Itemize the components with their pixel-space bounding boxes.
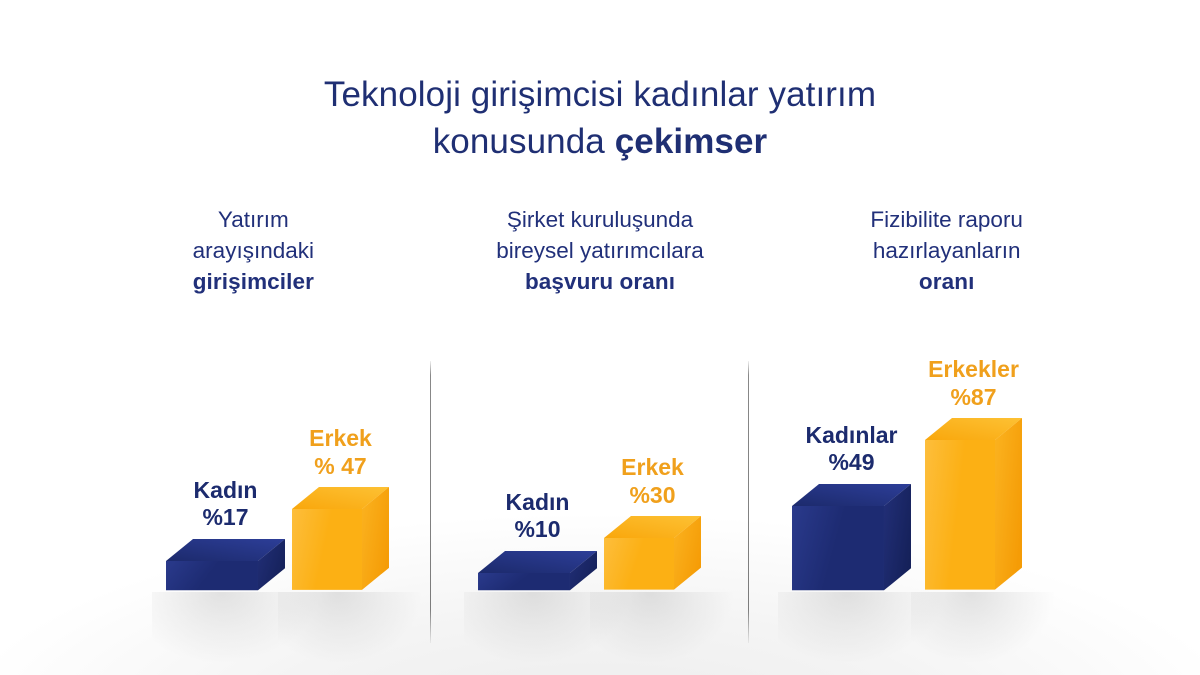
bar-label-value: %30 bbox=[553, 482, 753, 510]
bar-kadın-group-3 bbox=[790, 480, 917, 598]
bar-erkek-group-3 bbox=[923, 414, 1028, 598]
bar-label-value: % 47 bbox=[241, 453, 441, 481]
bar-kadın-group-1 bbox=[164, 535, 291, 598]
bar-label-name: Erkek bbox=[621, 454, 684, 480]
bar-erkek-group-2 bbox=[602, 512, 707, 598]
bar-shadow bbox=[778, 592, 943, 662]
bar-label-value: %87 bbox=[874, 384, 1074, 412]
bar-label-name: Kadın bbox=[194, 477, 258, 503]
bar-erkek-group-1 bbox=[290, 483, 395, 598]
bar-shadow bbox=[278, 592, 421, 662]
bar-label-erkek-group-2: Erkek%30 bbox=[553, 454, 753, 509]
bar-shadow bbox=[464, 592, 629, 662]
bar-label-kadın-group-3: Kadınlar%49 bbox=[752, 422, 952, 477]
bar-label-erkek-group-1: Erkek% 47 bbox=[241, 425, 441, 480]
bar-label-value: %49 bbox=[752, 449, 952, 477]
bar-shadow bbox=[590, 592, 733, 662]
bar-shadow bbox=[152, 592, 317, 662]
bar-chart: Kadın%17Kadın%10Kadınlar%49Erkek% 47Erke… bbox=[0, 0, 1200, 675]
bar-label-erkek-group-3: Erkekler%87 bbox=[874, 356, 1074, 411]
bar-label-name: Erkek bbox=[309, 425, 372, 451]
bar-label-name: Erkekler bbox=[928, 356, 1019, 382]
bar-kadın-group-2 bbox=[476, 547, 603, 598]
bar-shadow bbox=[911, 592, 1054, 662]
infographic-canvas: Teknoloji girişimcisi kadınlar yatırım k… bbox=[0, 0, 1200, 675]
bar-label-name: Kadınlar bbox=[805, 422, 897, 448]
